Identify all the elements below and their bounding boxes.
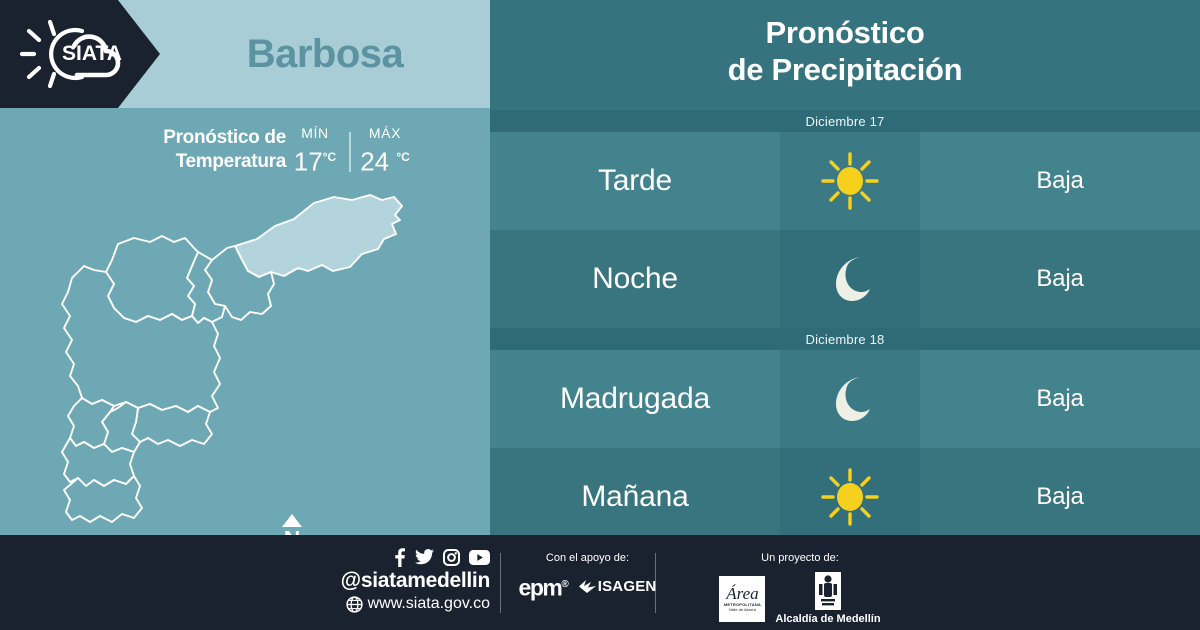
precipitation-panel: Pronóstico de Precipitación Diciembre 17… xyxy=(490,0,1200,535)
epm-logo: epm® xyxy=(519,573,569,600)
facebook-icon[interactable] xyxy=(393,548,406,567)
forecast-table: Diciembre 17 Tarde xyxy=(490,110,1200,546)
area-sub2-text: Valle de Aburrá xyxy=(729,607,756,612)
website-text: www.siata.gov.co xyxy=(368,594,490,614)
aburra-valley-map-svg xyxy=(22,186,442,531)
precipitation-level: Baja xyxy=(920,448,1200,546)
table-row: Mañana xyxy=(490,448,1200,546)
weather-icon-cell xyxy=(780,132,920,230)
moon-icon xyxy=(822,251,878,307)
alcaldia-logo: Alcaldía de Medellín xyxy=(775,571,880,626)
instagram-icon[interactable] xyxy=(443,549,460,566)
footer: @siatamedellin www.siata.gov.co Con el a… xyxy=(0,535,1200,630)
temperature-max: MÁX 24 °C xyxy=(355,124,415,177)
weather-icon-cell xyxy=(780,230,920,328)
page-title: Barbosa xyxy=(160,0,490,108)
isagen-mark-icon xyxy=(579,579,596,594)
minmax-divider xyxy=(349,132,351,172)
max-label: MÁX xyxy=(355,124,415,142)
footer-divider xyxy=(500,553,501,613)
period-label: Noche xyxy=(490,230,780,328)
temperature-title: Pronóstico de Temperatura xyxy=(96,126,286,174)
table-row: Tarde xyxy=(490,132,1200,230)
project-logos: Área METROPOLITANA Valle de Aburrá xyxy=(700,571,900,626)
table-row: Madrugada Baja xyxy=(490,350,1200,448)
table-row: Noche Baja xyxy=(490,230,1200,328)
social-icons xyxy=(330,547,490,567)
area-metropolitana-logo: Área METROPOLITANA Valle de Aburrá xyxy=(719,576,765,622)
weather-icon-cell xyxy=(780,448,920,546)
min-unit: °C xyxy=(323,150,336,164)
social-handle[interactable]: @siatamedellin xyxy=(330,568,490,594)
map-region-envigado xyxy=(132,404,212,446)
project-label: Un proyecto de: xyxy=(700,551,900,565)
date-header-day1: Diciembre 17 xyxy=(490,110,1200,132)
alcaldia-crest-icon xyxy=(813,571,843,611)
precipitation-level: Baja xyxy=(920,132,1200,230)
left-panel: Barbosa SIATA xyxy=(0,0,490,535)
min-label: MÍN xyxy=(285,124,345,142)
precipitation-title-line2: de Precipitación xyxy=(490,51,1200,88)
precipitation-level: Baja xyxy=(920,230,1200,328)
precipitation-title: Pronóstico de Precipitación xyxy=(490,14,1200,88)
min-value: 17°C xyxy=(285,142,345,177)
period-label: Mañana xyxy=(490,448,780,546)
social-block: @siatamedellin www.siata.gov.co xyxy=(330,547,490,614)
website-link[interactable]: www.siata.gov.co xyxy=(330,594,490,614)
twitter-icon[interactable] xyxy=(415,549,434,565)
map-region-bello xyxy=(106,236,198,322)
support-logos: epm® ISAGEN xyxy=(505,573,670,600)
support-label: Con el apoyo de: xyxy=(505,551,670,565)
temperature-values: MÍN 17°C MÁX 24 °C xyxy=(285,124,415,184)
project-block: Un proyecto de: Área METROPOLITANA Valle… xyxy=(700,551,900,626)
sun-icon xyxy=(819,150,881,212)
period-label: Tarde xyxy=(490,132,780,230)
precipitation-title-line1: Pronóstico xyxy=(490,14,1200,51)
isagen-logo: ISAGEN xyxy=(579,578,657,595)
globe-icon xyxy=(346,596,363,613)
municipality-map: N xyxy=(0,186,490,535)
precipitation-level: Baja xyxy=(920,350,1200,448)
sun-cloud-icon: SIATA xyxy=(14,14,146,94)
logo-wordmark: SIATA xyxy=(62,42,122,65)
map-region-barbosa xyxy=(235,195,402,277)
moon-icon xyxy=(822,371,878,427)
temperature-title-line2: Temperatura xyxy=(96,150,286,174)
infographic-canvas: Barbosa SIATA xyxy=(0,0,1200,630)
footer-divider xyxy=(655,553,656,613)
weather-icon-cell xyxy=(780,350,920,448)
area-script-text: Área xyxy=(726,585,758,602)
temperature-min: MÍN 17°C xyxy=(285,124,345,177)
support-block: Con el apoyo de: epm® ISAGEN xyxy=(505,551,670,600)
period-label: Madrugada xyxy=(490,350,780,448)
alcaldia-text: Alcaldía de Medellín xyxy=(775,613,880,626)
max-value: 24 °C xyxy=(355,142,415,177)
max-unit: °C xyxy=(396,150,409,164)
temperature-title-line1: Pronóstico de xyxy=(96,126,286,150)
sun-icon xyxy=(819,466,881,528)
date-header-day2: Diciembre 18 xyxy=(490,328,1200,350)
youtube-icon[interactable] xyxy=(469,550,490,565)
temperature-block: Pronóstico de Temperatura MÍN 17°C MÁX 2… xyxy=(0,108,490,188)
